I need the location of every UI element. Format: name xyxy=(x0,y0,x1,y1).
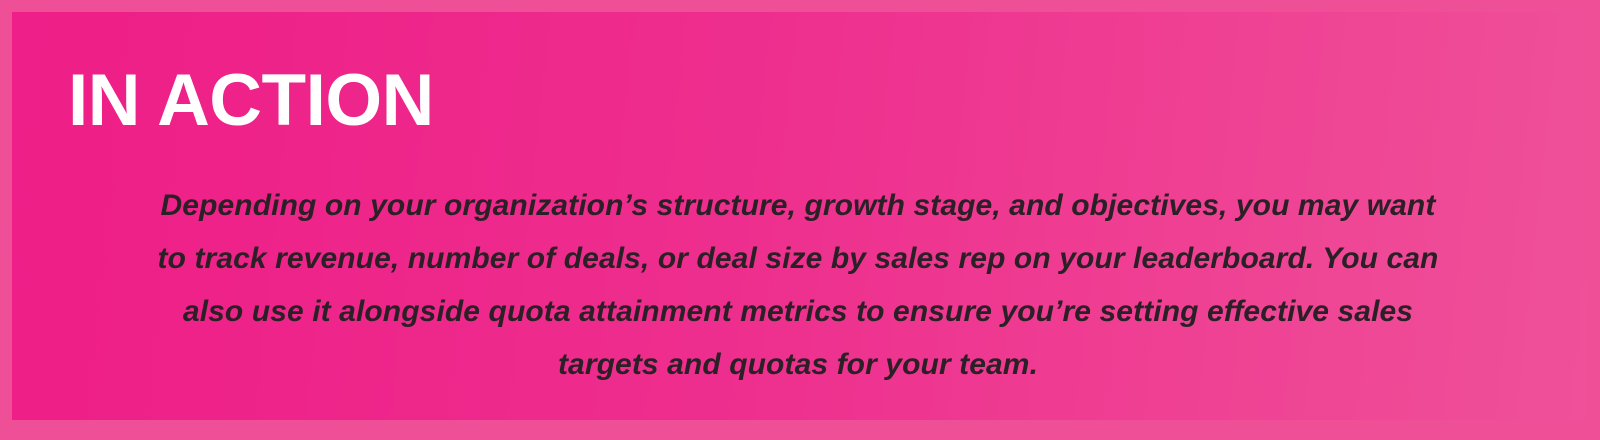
callout-body-text: Depending on your organization’s structu… xyxy=(68,179,1528,391)
body-line: Depending on your organization’s structu… xyxy=(90,179,1506,232)
body-line: also use it alongside quota attainment m… xyxy=(90,285,1506,338)
callout-frame: IN ACTION Depending on your organization… xyxy=(0,0,1600,440)
body-line: to track revenue, number of deals, or de… xyxy=(90,232,1506,285)
callout-heading: IN ACTION xyxy=(68,70,1528,133)
callout-panel: IN ACTION Depending on your organization… xyxy=(12,12,1586,420)
body-line: targets and quotas for your team. xyxy=(90,338,1506,391)
